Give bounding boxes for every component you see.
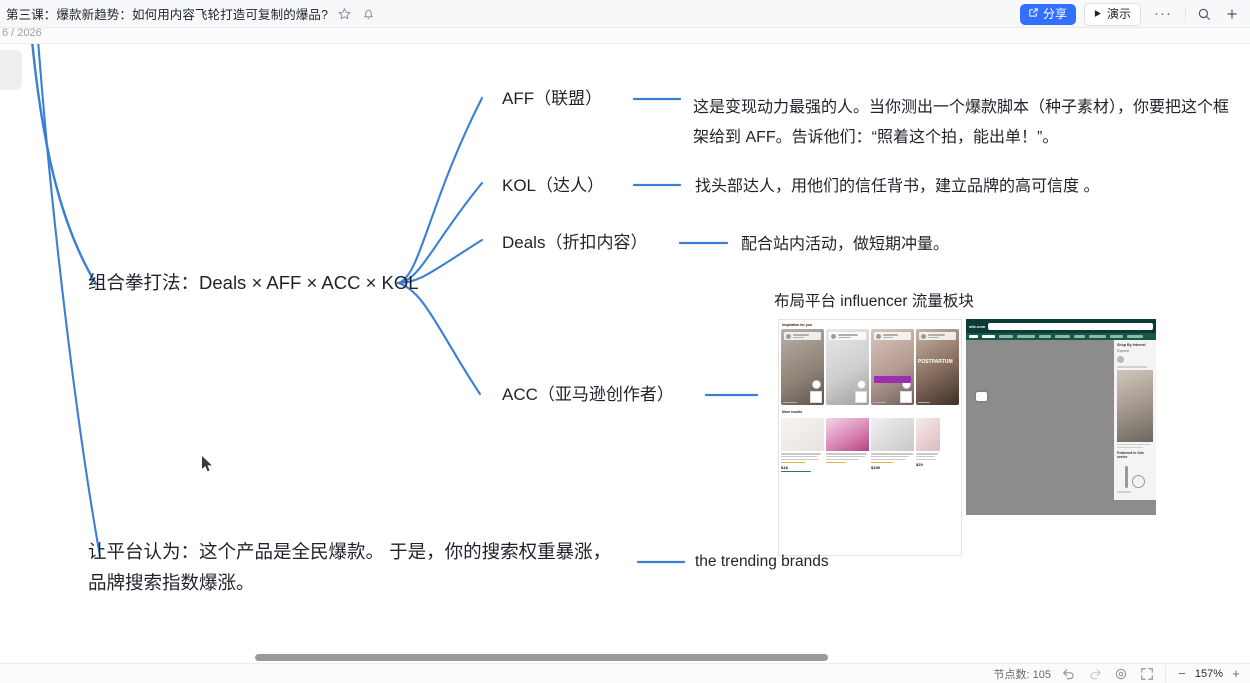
- status-divider: [1165, 666, 1166, 682]
- product-price: $159: [871, 465, 914, 470]
- node-acc-label: ACC（亚马逊创作者）: [502, 385, 674, 404]
- zoom-in-button[interactable]: +: [1230, 668, 1242, 680]
- zoom-control: − 157% +: [1176, 668, 1242, 680]
- node-aff-detail[interactable]: 这是变现动力最强的人。当你测出一个爆款脚本（种子素材），你要把这个框架给到 AF…: [693, 93, 1238, 153]
- share-button-label: 分享: [1043, 7, 1067, 21]
- share-button[interactable]: 分享: [1020, 4, 1076, 25]
- zoom-value[interactable]: 157%: [1192, 668, 1226, 680]
- site-nav-bar: [966, 333, 1156, 340]
- site-body: Shop By Interest Explore Featured in thi…: [966, 340, 1156, 500]
- video-overlay-text: POSTPARTUM: [918, 359, 953, 365]
- node-kol-label: KOL（达人）: [502, 176, 604, 195]
- node-aff-detail-text: 这是变现动力最强的人。当你测出一个爆款脚本（种子素材），你要把这个框架给到 AF…: [693, 99, 1229, 146]
- undo-icon[interactable]: [1061, 666, 1077, 682]
- site-header: site.com: [966, 319, 1156, 333]
- redo-icon[interactable]: [1087, 666, 1103, 682]
- horizontal-scrollbar-track[interactable]: [0, 651, 1250, 663]
- video-card[interactable]: POSTPARTUM: [916, 329, 959, 405]
- amazon-site-screenshot[interactable]: site.com Shop By Interest Explore: [966, 319, 1156, 515]
- node-kol-detail-text: 找头部达人，用他们的信任背书，建立品牌的高可信度 。: [695, 178, 1099, 195]
- product-card[interactable]: $159: [871, 418, 914, 484]
- product-card[interactable]: $29: [916, 418, 940, 484]
- node-deals[interactable]: Deals（折扣内容）: [502, 231, 647, 255]
- canvas-corner-placeholder: [0, 50, 22, 90]
- sidebar-subtitle: Explore: [1117, 349, 1153, 353]
- site-loading-badge: [976, 392, 987, 401]
- node-acc[interactable]: ACC（亚马逊创作者）: [502, 383, 674, 407]
- more-options-button[interactable]: ···: [1149, 9, 1177, 19]
- fullscreen-icon[interactable]: [1139, 666, 1155, 682]
- node-trending-brands-label: the trending brands: [695, 553, 829, 570]
- sidebar-photo: [1117, 370, 1153, 442]
- present-button-label: 演示: [1107, 7, 1131, 21]
- document-title: 第三课：爆款新趋势：如何用内容飞轮打造可复制的爆品?: [6, 4, 328, 23]
- status-bar: 节点数: 105 − 157% +: [0, 663, 1250, 683]
- mindmap-canvas[interactable]: 组合拳打法：Deals × AFF × ACC × KOL AFF（联盟） 这是…: [0, 44, 1250, 652]
- mouse-cursor: [202, 456, 214, 473]
- plus-icon[interactable]: [1222, 4, 1242, 24]
- sidebar-product-icons: [1117, 462, 1153, 488]
- node-deals-detail[interactable]: 配合站内活动，做短期冲量。: [741, 230, 1161, 260]
- play-icon: [1093, 7, 1102, 21]
- node-root-label: 组合拳打法：Deals × AFF × ACC × KOL: [88, 272, 419, 293]
- present-button[interactable]: 演示: [1084, 3, 1141, 26]
- product-card[interactable]: [826, 418, 869, 484]
- node-kol[interactable]: KOL（达人）: [502, 174, 604, 198]
- sub-strip-text: 6 / 2026: [2, 27, 42, 39]
- site-sidebar-panel[interactable]: Shop By Interest Explore Featured in thi…: [1114, 340, 1156, 500]
- site-logo: site.com: [969, 324, 985, 329]
- node-deals-detail-text: 配合站内活动，做短期冲量。: [741, 236, 949, 253]
- sub-strip: 6 / 2026: [0, 28, 1250, 44]
- social-feed-screenshot[interactable]: Inspiration for you: [778, 319, 962, 556]
- sidebar-avatar-row: [1117, 356, 1153, 363]
- node-count-label: 节点数: 105: [994, 666, 1051, 682]
- feed-product-row: $18 $159 $29: [779, 416, 961, 486]
- video-card[interactable]: [781, 329, 824, 405]
- title-bar-right: 分享 演示 ···: [1020, 0, 1242, 28]
- feed-section-2-label: More results: [782, 410, 961, 414]
- image-group-caption[interactable]: 布局平台 influencer 流量板块: [774, 289, 974, 311]
- node-trending-brands[interactable]: the trending brands: [695, 549, 829, 575]
- sidebar-section-title: Featured in this series: [1117, 451, 1153, 459]
- title-bar: 第三课：爆款新趋势：如何用内容飞轮打造可复制的爆品? 分享: [0, 0, 1250, 28]
- video-card[interactable]: [826, 329, 869, 405]
- search-icon[interactable]: [1194, 4, 1214, 24]
- locate-icon[interactable]: [1113, 666, 1129, 682]
- node-bottom-line1: 让平台认为：这个产品是全民爆款。 于是，你的搜索权重暴涨，: [88, 536, 611, 567]
- product-price: $18: [781, 465, 824, 470]
- mindmap-app: 第三课：爆款新趋势：如何用内容飞轮打造可复制的爆品? 分享: [0, 0, 1250, 683]
- video-card[interactable]: [871, 329, 914, 405]
- share-external-icon: [1028, 7, 1039, 21]
- zoom-out-button[interactable]: −: [1176, 668, 1188, 680]
- product-price: $29: [916, 462, 940, 467]
- avatar: [1117, 356, 1124, 363]
- feed-section-1-label: Inspiration for you: [782, 323, 961, 327]
- horizontal-scrollbar-thumb[interactable]: [255, 654, 828, 661]
- node-deals-label: Deals（折扣内容）: [502, 233, 647, 252]
- product-card[interactable]: $18: [781, 418, 824, 484]
- node-aff[interactable]: AFF（联盟）: [502, 87, 602, 111]
- node-kol-detail[interactable]: 找头部达人，用他们的信任背书，建立品牌的高可信度 。: [695, 172, 1215, 202]
- node-bottom[interactable]: 让平台认为：这个产品是全民爆款。 于是，你的搜索权重暴涨， 品牌搜索指数爆涨。: [88, 536, 611, 598]
- site-search-input[interactable]: [988, 323, 1153, 330]
- node-root[interactable]: 组合拳打法：Deals × AFF × ACC × KOL: [88, 270, 419, 296]
- node-aff-label: AFF（联盟）: [502, 89, 602, 108]
- star-icon[interactable]: [336, 6, 352, 22]
- sidebar-title: Shop By Interest: [1117, 343, 1153, 347]
- title-bar-left: 第三课：爆款新趋势：如何用内容飞轮打造可复制的爆品?: [0, 4, 376, 23]
- node-bottom-line2: 品牌搜索指数爆涨。: [88, 567, 611, 598]
- toolbar-divider: [1185, 6, 1186, 22]
- feed-video-row: POSTPARTUM: [779, 329, 961, 405]
- bell-icon[interactable]: [360, 6, 376, 22]
